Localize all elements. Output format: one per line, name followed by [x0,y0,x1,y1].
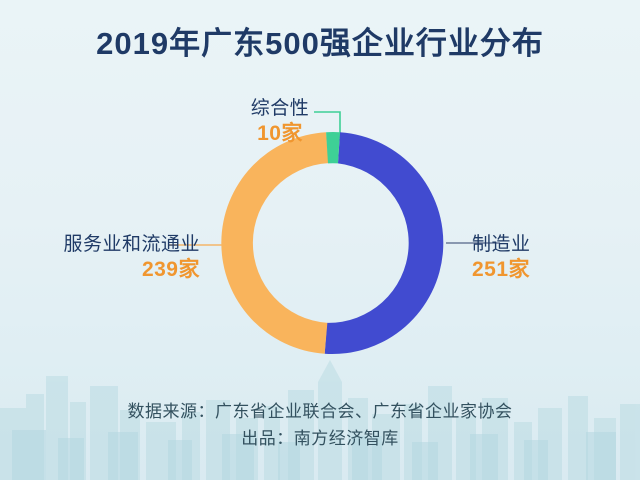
footer-producer-line: 出品：南方经济智库 [0,425,640,452]
infographic-poster: 2019年广东500强企业行业分布 综合性 10家 制造业 251家 [0,0,640,480]
footer: 数据来源：广东省企业联合会、广东省企业家协会 出品：南方经济智库 [0,398,640,452]
callout-comprehensive: 综合性 10家 [238,96,322,147]
donut-segment-manufacturing[interactable] [325,132,444,354]
callout-manufacturing: 制造业 251家 [472,232,531,283]
callout-service: 服务业和流通业 239家 [34,232,200,283]
footer-source-line: 数据来源：广东省企业联合会、广东省企业家协会 [0,398,640,425]
callout-manufacturing-name: 制造业 [472,232,531,257]
callout-comprehensive-name: 综合性 [238,96,322,121]
donut-segment-service[interactable] [221,132,328,354]
callout-service-value: 239家 [34,257,200,283]
callout-service-name: 服务业和流通业 [34,232,200,257]
callout-manufacturing-value: 251家 [472,257,531,283]
callout-comprehensive-value: 10家 [238,121,322,147]
donut-segments [221,132,443,354]
donut-segment-comprehensive[interactable] [326,132,340,163]
leader-lines [168,112,500,245]
